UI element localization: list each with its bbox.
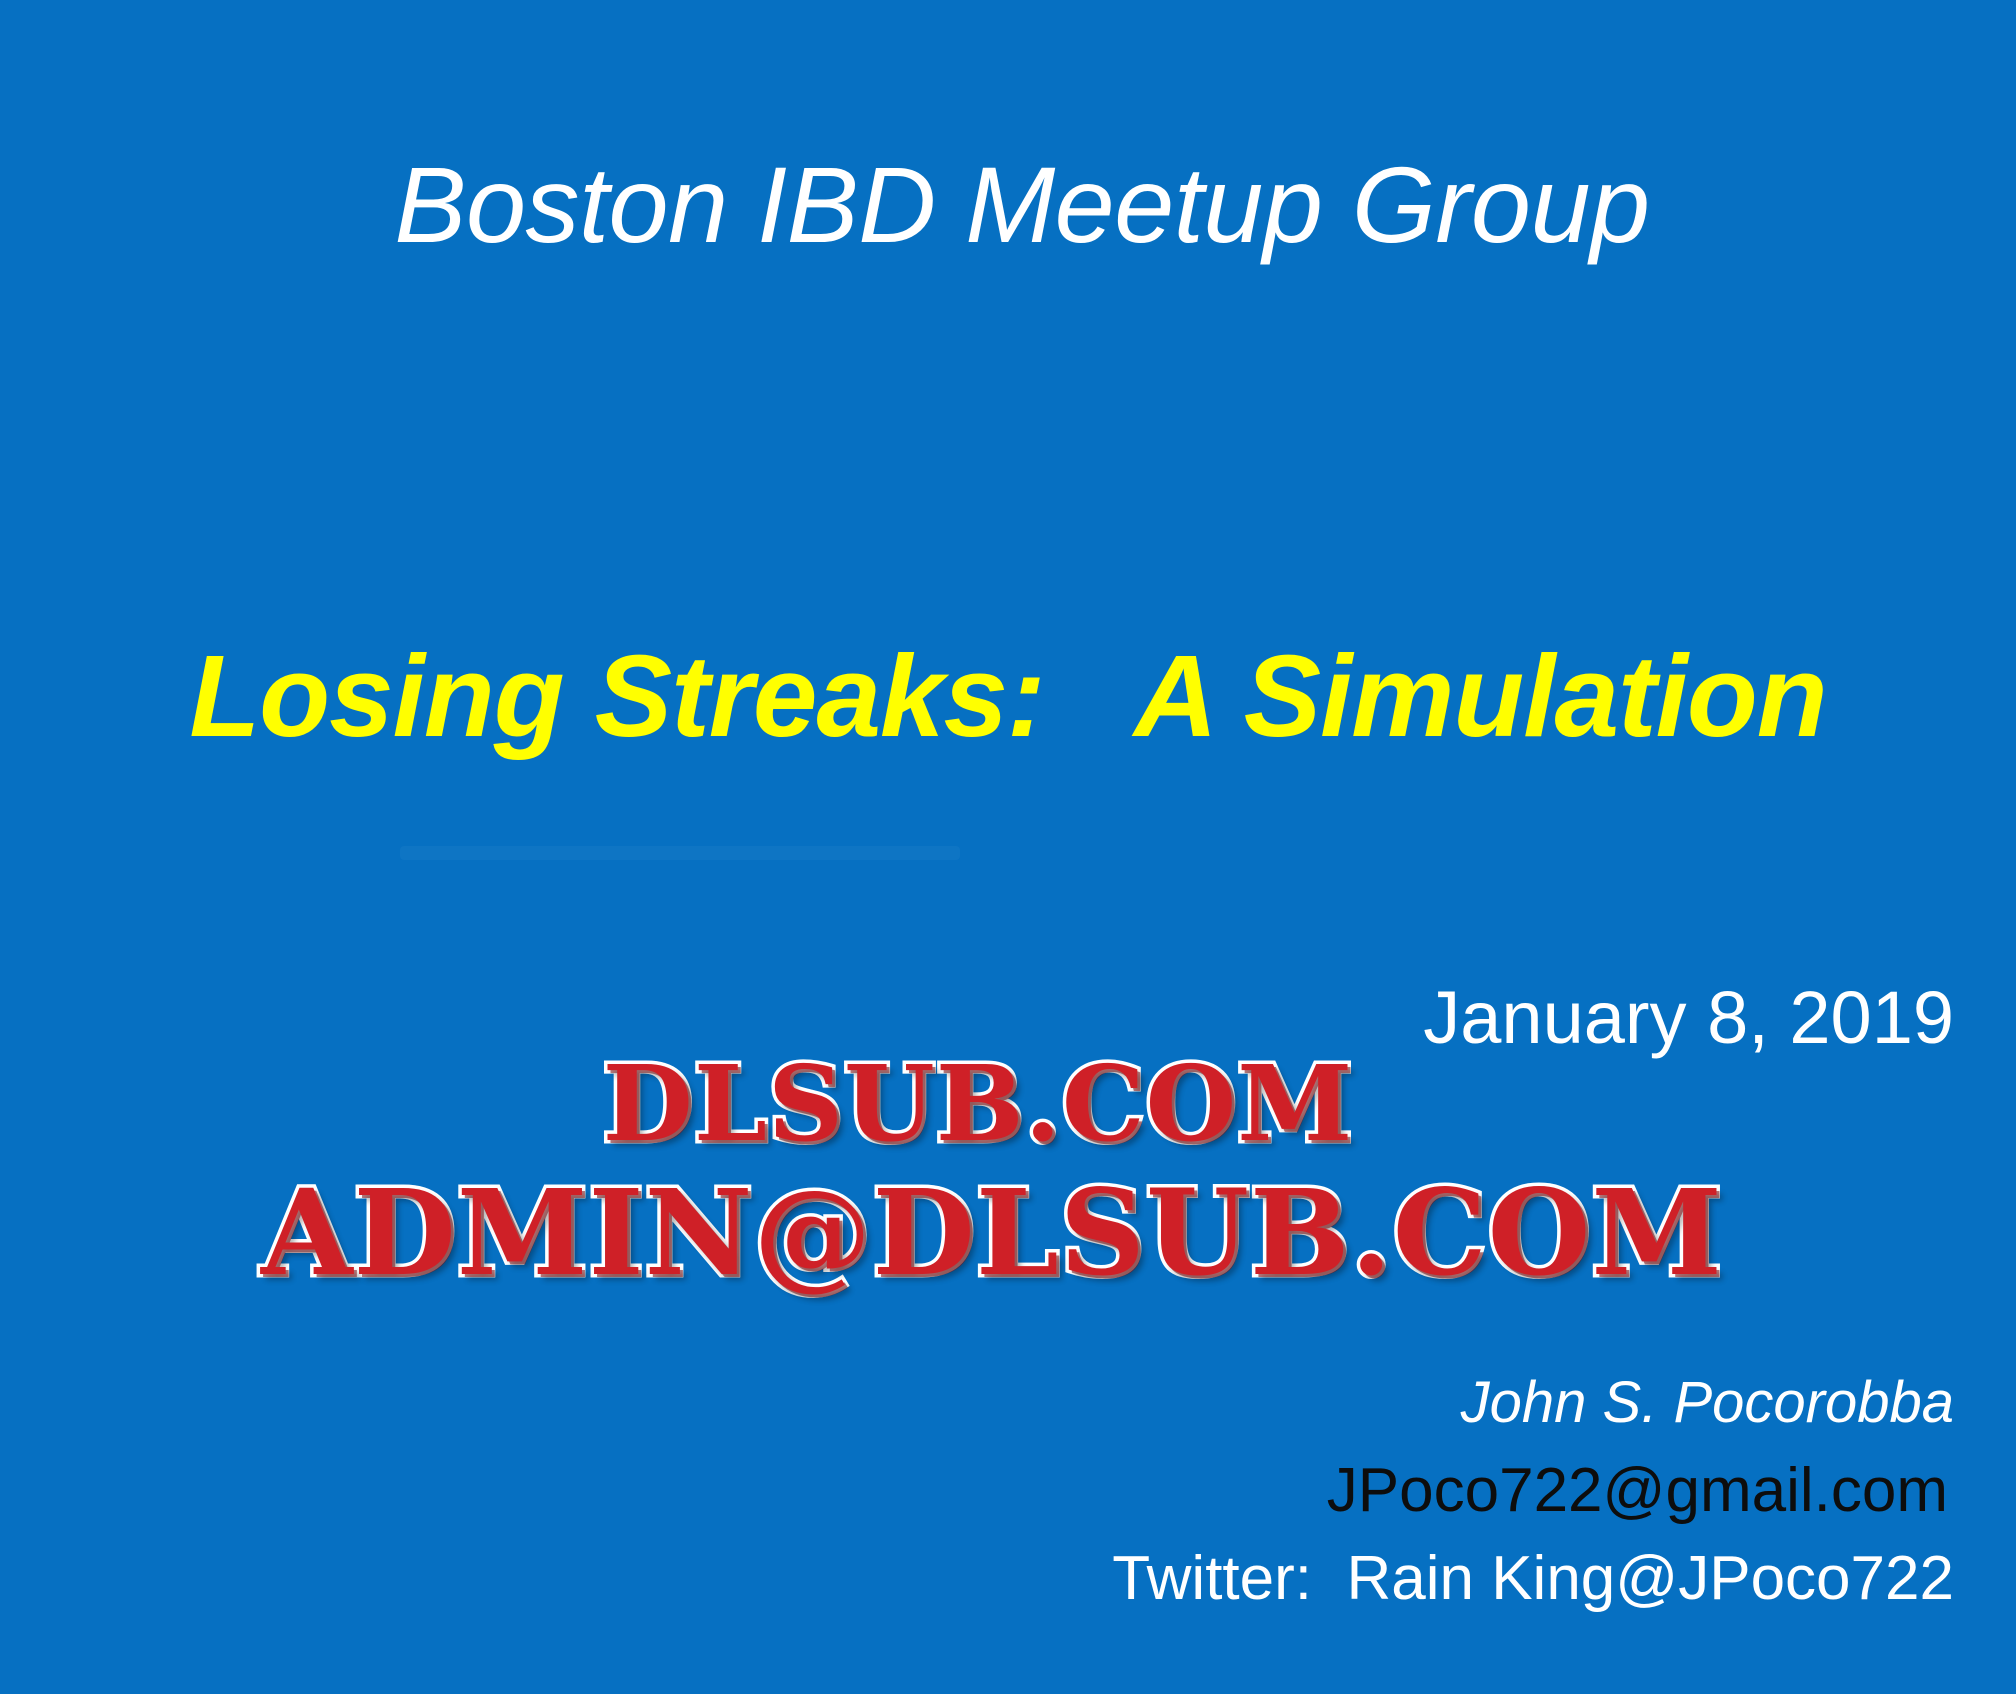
slide-headline: Losing Streaks: A Simulation <box>0 636 2016 758</box>
author-email[interactable]: JPoco722@gmail.com <box>1112 1460 1948 1522</box>
watermark-overlay: DLSUB.COM ADMIN@DLSUB.COM <box>0 1052 2016 1292</box>
presentation-date: January 8, 2019 <box>1423 978 1954 1058</box>
watermark-site-email: ADMIN@DLSUB.COM <box>0 1174 2000 1292</box>
group-title: Boston IBD Meetup Group <box>0 148 2016 262</box>
author-twitter[interactable]: Twitter: Rain King@JPoco722 <box>1112 1548 1954 1610</box>
contact-block: John S. Pocorobba JPoco722@gmail.com Twi… <box>1112 1374 1954 1610</box>
background-artifact <box>400 846 960 860</box>
watermark-site-url: DLSUB.COM <box>0 1052 1986 1156</box>
author-name: John S. Pocorobba <box>1112 1374 1954 1432</box>
presentation-slide: Boston IBD Meetup Group Losing Streaks: … <box>0 0 2016 1694</box>
